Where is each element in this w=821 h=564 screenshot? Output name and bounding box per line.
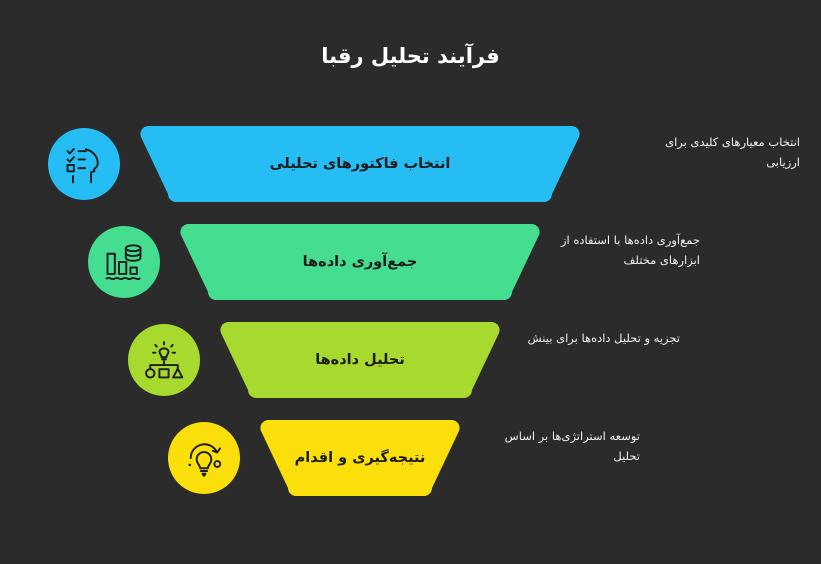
lightbulb-hierarchy-icon — [142, 338, 186, 382]
lightbulb-arrow-icon — [182, 436, 226, 480]
funnel-step-caption: انتخاب معیارهای کلیدی برای ارزیابی — [600, 132, 800, 172]
funnel-band: جمع‌آوری داده‌ها — [180, 224, 540, 300]
infographic-slide: فرآیند تحلیل رقبا ا — [0, 0, 821, 564]
funnel-band: انتخاب فاکتورهای تحلیلی — [140, 126, 580, 202]
bar-chart-database-icon — [102, 240, 146, 284]
funnel-step-caption: جمع‌آوری داده‌ها با استفاده از ابزارهای … — [500, 230, 700, 270]
funnel-diagram: انتخاب فاکتورهای تحلیلی انتخاب معیارهای … — [0, 118, 821, 518]
step-icon-badge — [168, 422, 240, 494]
funnel-band: تحلیل داده‌ها — [220, 322, 500, 398]
funnel-band-label: انتخاب فاکتورهای تحلیلی — [240, 156, 481, 172]
funnel-row: جمع‌آوری داده‌ها جمع‌آوری داده‌ها با است… — [0, 216, 821, 312]
funnel-step-caption: تجزیه و تحلیل داده‌ها برای بینش — [465, 328, 680, 348]
head-checklist-icon — [62, 142, 106, 186]
step-icon-badge — [88, 226, 160, 298]
funnel-band-label: جمع‌آوری داده‌ها — [273, 254, 448, 270]
step-icon-badge — [48, 128, 120, 200]
page-title: فرآیند تحلیل رقبا — [0, 44, 821, 68]
funnel-band-label: تحلیل داده‌ها — [285, 352, 435, 368]
funnel-row: نتیجه‌گیری و اقدام توسعه استراتژی‌ها بر … — [0, 412, 821, 508]
funnel-row: انتخاب فاکتورهای تحلیلی انتخاب معیارهای … — [0, 118, 821, 214]
funnel-step-caption: توسعه استراتژی‌ها بر اساس تحلیل — [440, 426, 640, 466]
funnel-row: تحلیل داده‌ها تجزیه و تحلیل داده‌ها برای… — [0, 314, 821, 410]
funnel-band-label: نتیجه‌گیری و اقدام — [265, 450, 456, 466]
funnel-band: نتیجه‌گیری و اقدام — [260, 420, 460, 496]
step-icon-badge — [128, 324, 200, 396]
